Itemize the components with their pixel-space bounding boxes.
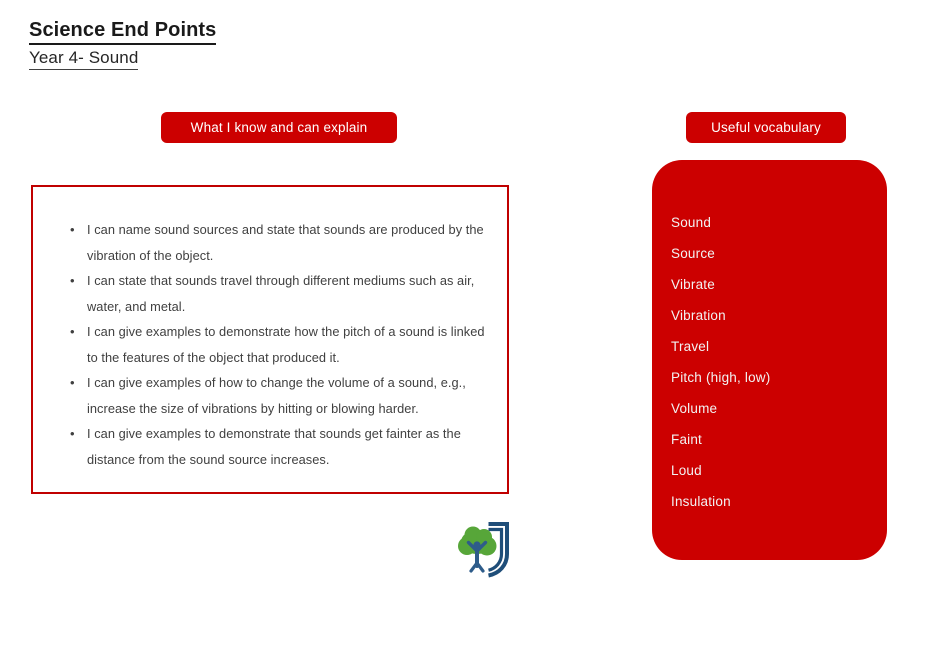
list-item: Travel (671, 331, 887, 362)
outcomes-list: I can name sound sources and state that … (33, 187, 507, 472)
list-item: Faint (671, 424, 887, 455)
list-item: Insulation (671, 486, 887, 517)
list-item: Source (671, 238, 887, 269)
list-item: I can name sound sources and state that … (70, 217, 493, 268)
list-item: I can give examples to demonstrate how t… (70, 319, 493, 370)
useful-vocabulary-button[interactable]: Useful vocabulary (686, 112, 846, 143)
list-item: Sound (671, 207, 887, 238)
page-title: Science End Points (29, 19, 216, 45)
outcomes-box: I can name sound sources and state that … (31, 185, 509, 494)
what-i-know-button[interactable]: What I know and can explain (161, 112, 397, 143)
list-item: I can give examples of how to change the… (70, 370, 493, 421)
list-item: Loud (671, 455, 887, 486)
vocabulary-panel: Sound Source Vibrate Vibration Travel Pi… (652, 160, 887, 560)
school-logo (455, 518, 517, 580)
list-item: Vibration (671, 300, 887, 331)
list-item: Pitch (high, low) (671, 362, 887, 393)
list-item: I can state that sounds travel through d… (70, 268, 493, 319)
list-item: Volume (671, 393, 887, 424)
list-item: Vibrate (671, 269, 887, 300)
school-logo-icon (455, 518, 517, 580)
list-item: I can give examples to demonstrate that … (70, 421, 493, 472)
vocabulary-list: Sound Source Vibrate Vibration Travel Pi… (652, 160, 887, 517)
page-subtitle: Year 4- Sound (29, 48, 138, 70)
